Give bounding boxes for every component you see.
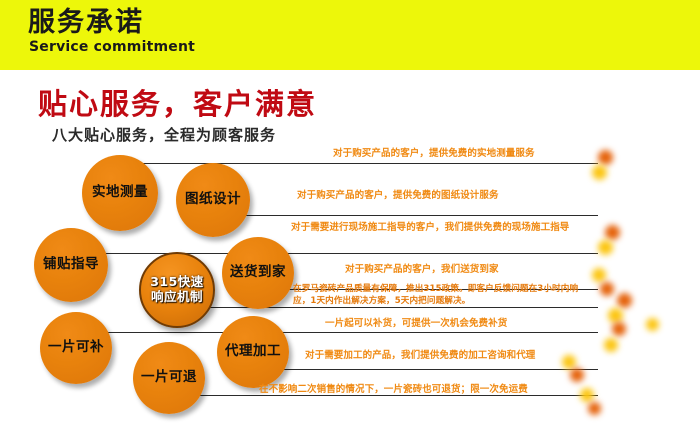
- service-label-paving-guide: 铺贴指导: [43, 257, 99, 272]
- service-label-315-line2: 响应机制: [151, 290, 203, 305]
- service-bubble-agency-processing[interactable]: 代理加工: [217, 316, 289, 388]
- connector-horizontal-onsite-measure: [118, 163, 598, 164]
- banner-title-cn: 服务承诺: [28, 9, 144, 36]
- service-desc-home-delivery: 对于购买产品的客户，我们送货到家: [345, 263, 499, 277]
- sparkle-dot-1: [598, 150, 613, 165]
- service-desc-agency-processing: 对于需要加工的产品，我们提供免费的加工咨询和代理: [305, 349, 535, 363]
- service-bubble-one-piece-return[interactable]: 一片可退: [133, 342, 205, 414]
- service-label-onsite-measure: 实地测量: [92, 185, 148, 200]
- sparkle-dot-14: [588, 402, 601, 415]
- sparkle-dot-15: [646, 318, 659, 331]
- service-bubble-paving-guide[interactable]: 铺贴指导: [34, 228, 108, 302]
- sparkle-dot-10: [604, 338, 618, 352]
- service-desc-drawing-design: 对于购买产品的客户，提供免费的图纸设计服务: [297, 189, 499, 203]
- service-desc-315-response: 在罗马瓷砖产品质量有保障，推出315政策。即客户反馈问题在3小时内响应，1天内作…: [293, 283, 595, 308]
- service-label-one-piece-return: 一片可退: [141, 370, 197, 385]
- service-bubble-one-piece-restock[interactable]: 一片可补: [40, 312, 112, 384]
- connector-horizontal-one-piece-restock: [76, 332, 598, 333]
- service-bubble-drawing-design[interactable]: 图纸设计: [176, 163, 250, 237]
- sparkle-dot-8: [608, 308, 623, 323]
- sparkle-dot-4: [598, 240, 613, 255]
- page-title: 贴心服务，客户满意: [38, 88, 317, 121]
- page-subtitle: 八大贴心服务，全程为顾客服务: [52, 127, 276, 144]
- service-bubble-home-delivery[interactable]: 送货到家: [222, 237, 294, 309]
- sparkle-dot-9: [612, 322, 626, 336]
- service-bubble-315-response[interactable]: 315快速 响应机制: [139, 252, 215, 328]
- service-desc-onsite-measure: 对于购买产品的客户，提供免费的实地测量服务: [333, 147, 535, 161]
- service-label-one-piece-restock: 一片可补: [48, 340, 104, 355]
- sparkle-dot-11: [562, 355, 576, 369]
- sparkle-dot-6: [600, 282, 614, 296]
- header-banner: 服务承诺 Service commitment: [0, 0, 700, 70]
- connector-horizontal-agency-processing: [253, 369, 598, 370]
- service-desc-one-piece-return: 在不影响二次销售的情况下，一片瓷砖也可退货；限一次免运费: [259, 383, 528, 397]
- banner-title-en: Service commitment: [29, 40, 195, 54]
- slide-canvas: 服务承诺 Service commitment 贴心服务，客户满意 八大贴心服务…: [0, 0, 700, 428]
- sparkle-dot-5: [592, 268, 606, 282]
- service-label-drawing-design: 图纸设计: [185, 192, 241, 207]
- connector-horizontal-paving-guide: [70, 253, 598, 254]
- service-desc-paving-guide: 对于需要进行现场施工指导的客户，我们提供免费的现场施工指导: [291, 221, 569, 235]
- sparkle-dot-3: [605, 225, 620, 240]
- sparkle-dot-2: [592, 165, 607, 180]
- service-label-315-line1: 315快速: [150, 275, 204, 290]
- service-bubble-onsite-measure[interactable]: 实地测量: [82, 155, 158, 231]
- sparkle-dot-7: [617, 293, 632, 308]
- sparkle-dot-13: [580, 388, 594, 402]
- service-label-agency-processing: 代理加工: [225, 344, 281, 359]
- service-desc-one-piece-restock: 一片起可以补货，可提供一次机会免费补货: [325, 317, 507, 331]
- connector-horizontal-drawing-design: [213, 215, 598, 216]
- service-label-home-delivery: 送货到家: [230, 265, 286, 280]
- sparkle-dot-12: [570, 368, 584, 382]
